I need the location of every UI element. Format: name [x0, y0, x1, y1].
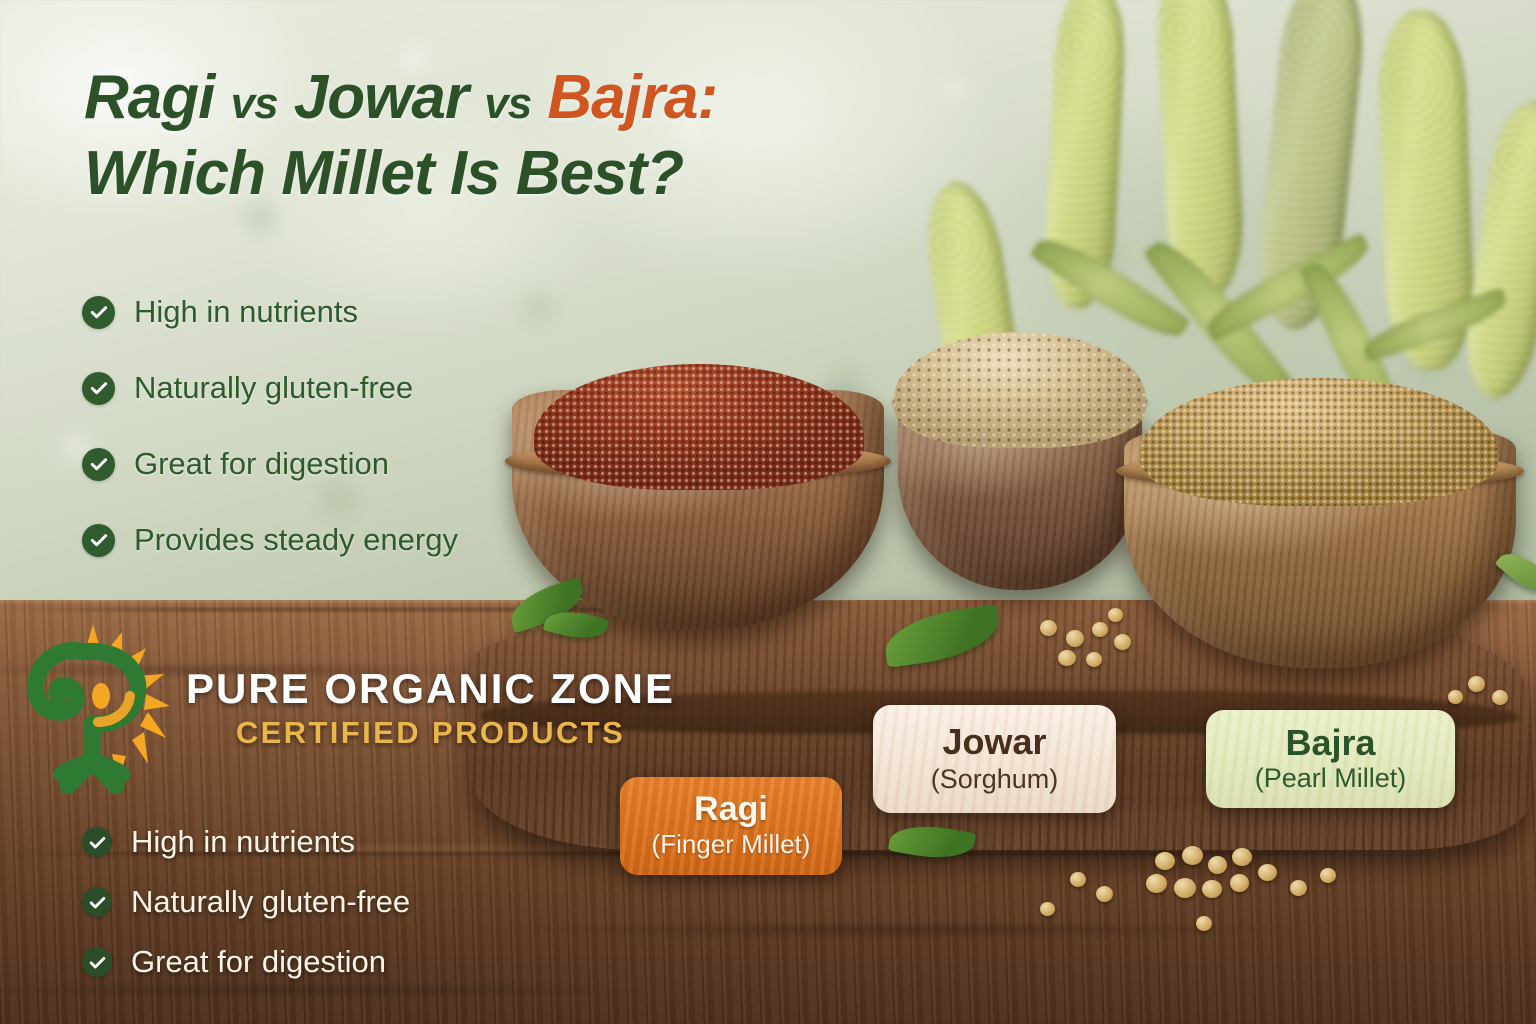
- scattered-grain: [1146, 874, 1167, 893]
- scattered-grain: [1092, 622, 1108, 637]
- scattered-grain: [1492, 690, 1508, 705]
- title-ragi: Ragi: [84, 63, 214, 132]
- jowar-bowl: [898, 400, 1142, 590]
- list-item: Naturally gluten-free: [82, 884, 410, 920]
- title-jowar: Jowar: [294, 63, 468, 132]
- scattered-grain: [1040, 620, 1057, 636]
- brand-text: PURE ORGANIC ZONE CERTIFIED PRODUCTS: [186, 665, 675, 751]
- scattered-grain: [1040, 902, 1055, 916]
- list-item-label: Great for digestion: [131, 944, 386, 980]
- title-vs-1: vs: [231, 79, 278, 128]
- list-item: High in nutrients: [82, 294, 458, 330]
- sprout-sun-logo-icon: [18, 622, 176, 794]
- scattered-grain: [1070, 872, 1086, 887]
- list-item-label: Provides steady energy: [134, 522, 458, 558]
- scattered-grain: [1258, 864, 1277, 881]
- title-vs-2: vs: [484, 79, 531, 128]
- scattered-grain: [1196, 916, 1212, 931]
- list-item-label: Naturally gluten-free: [134, 370, 413, 406]
- badge-bajra-subtitle: (Pearl Millet): [1255, 763, 1407, 794]
- badge-bajra[interactable]: Bajra (Pearl Millet): [1206, 710, 1455, 808]
- badge-ragi-subtitle: (Finger Millet): [652, 830, 811, 860]
- scattered-grain: [1182, 846, 1203, 865]
- brand-lockup: PURE ORGANIC ZONE CERTIFIED PRODUCTS: [18, 622, 675, 794]
- list-item-label: Naturally gluten-free: [131, 884, 410, 920]
- check-icon: [82, 372, 115, 405]
- check-icon: [82, 524, 115, 557]
- infographic-canvas: Ragi vs Jowar vs Bajra: Which Millet Is …: [0, 0, 1536, 1024]
- brand-name: PURE ORGANIC ZONE: [186, 665, 675, 713]
- list-item-label: High in nutrients: [131, 824, 355, 860]
- benefits-list-bottom: High in nutrients Naturally gluten-free …: [82, 824, 410, 1004]
- jowar-grain-heap: [894, 332, 1146, 448]
- list-item: Great for digestion: [82, 446, 458, 482]
- badge-ragi-title: Ragi: [694, 792, 768, 828]
- check-icon: [82, 827, 112, 857]
- ragi-grain-heap: [534, 364, 864, 490]
- title-bajra-accent: Bajra:: [547, 63, 717, 132]
- list-item-label: Great for digestion: [134, 446, 389, 482]
- scattered-grain: [1108, 608, 1123, 622]
- check-icon: [82, 887, 112, 917]
- list-item: Provides steady energy: [82, 522, 458, 558]
- scattered-grain: [1155, 852, 1175, 870]
- badge-jowar-title: Jowar: [942, 723, 1046, 761]
- brand-tagline: CERTIFIED PRODUCTS: [186, 715, 675, 751]
- badge-jowar-subtitle: (Sorghum): [931, 764, 1059, 795]
- bajra-grain-heap: [1140, 378, 1498, 506]
- benefits-list-top: High in nutrients Naturally gluten-free …: [82, 294, 458, 598]
- check-icon: [82, 448, 115, 481]
- scattered-grain: [1290, 880, 1307, 896]
- scattered-grain: [1114, 634, 1131, 650]
- title-subline: Which Millet Is Best?: [84, 142, 924, 206]
- scattered-grain: [1468, 676, 1485, 692]
- badge-bajra-title: Bajra: [1285, 724, 1375, 762]
- scattered-grain: [1058, 650, 1076, 666]
- bajra-bowl: [1124, 430, 1516, 668]
- scattered-grain: [1066, 630, 1084, 647]
- badge-ragi[interactable]: Ragi (Finger Millet): [620, 777, 842, 875]
- check-icon: [82, 296, 115, 329]
- check-icon: [82, 947, 112, 977]
- scattered-grain: [1232, 848, 1252, 866]
- scattered-grain: [1096, 886, 1113, 902]
- page-title: Ragi vs Jowar vs Bajra: Which Millet Is …: [84, 66, 924, 206]
- badge-jowar[interactable]: Jowar (Sorghum): [873, 705, 1116, 813]
- scattered-grain: [1320, 868, 1336, 883]
- scattered-grain: [1208, 856, 1227, 874]
- list-item: Naturally gluten-free: [82, 370, 458, 406]
- scattered-grain: [1174, 878, 1196, 898]
- list-item-label: High in nutrients: [134, 294, 358, 330]
- list-item: High in nutrients: [82, 824, 410, 860]
- scattered-grain: [1086, 652, 1102, 667]
- scattered-grain: [1448, 690, 1463, 704]
- list-item: Great for digestion: [82, 944, 410, 980]
- scattered-grain: [1230, 874, 1249, 892]
- scattered-grain: [1202, 880, 1222, 898]
